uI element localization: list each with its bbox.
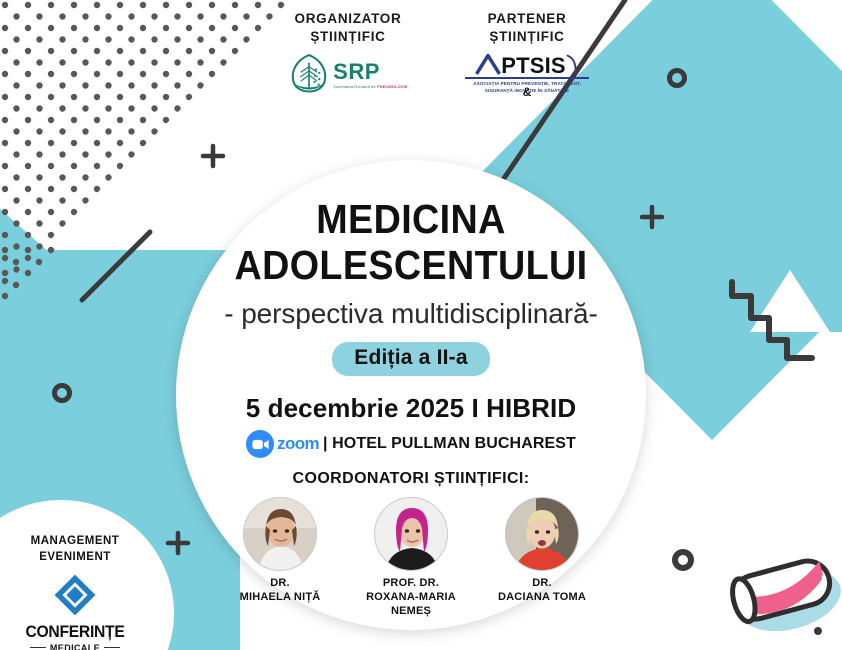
partner-block: PARTENER ȘTIINȚIFIC PTSIS ASOCIAȚIA PENT… bbox=[432, 10, 622, 95]
coordinator-rank: DR. bbox=[220, 577, 340, 591]
coordinator-name: DR. MIHAELA NIȚĂ bbox=[220, 577, 340, 605]
management-label: MANAGEMENT EVENIMENT bbox=[0, 534, 150, 565]
avatar bbox=[505, 497, 579, 571]
coordinators-list: DR. MIHAELA NIȚĂ PROF. DR. ROXANA-MARIA … bbox=[176, 497, 646, 618]
conferinte-subtitle-row: MEDICALE bbox=[0, 643, 150, 650]
ptsis-ampersand: & bbox=[523, 86, 532, 98]
title-line-2: ADOLESCENTULUI bbox=[195, 242, 627, 288]
avatar bbox=[374, 497, 448, 571]
srp-text-block: SRP Societatea Română de PNEUMOLOGIE bbox=[333, 61, 408, 89]
coordinator-name: PROF. DR. ROXANA-MARIA NEMEȘ bbox=[351, 577, 471, 618]
zoom-camera-icon bbox=[246, 430, 274, 458]
title-line-1: MEDICINA bbox=[195, 196, 627, 242]
srp-logo: SRP Societatea Română de PNEUMOLOGIE bbox=[248, 53, 448, 97]
coordinator-name: DR. DACIANA TOMA bbox=[482, 577, 602, 605]
ptsis-divider bbox=[465, 77, 589, 79]
avatar bbox=[243, 497, 317, 571]
venue-name: | HOTEL PULLMAN BUCHAREST bbox=[323, 435, 576, 453]
partner-label-line1: PARTENER bbox=[488, 11, 567, 26]
ptsis-swoosh-icon bbox=[566, 54, 579, 76]
edition-row: Ediția a II-a bbox=[176, 342, 646, 376]
srp-subtitle-accent: PNEUMOLOGIE bbox=[377, 84, 408, 89]
ptsis-subtitle: ASOCIAȚIA PENTRU PREVENȚIE, TRATAMENT, S… bbox=[457, 81, 597, 95]
ptsis-top-row: PTSIS bbox=[475, 52, 579, 76]
organizer-block: ORGANIZATOR ȘTIINȚIFIC SRP Societatea Ro… bbox=[248, 10, 448, 97]
organizer-label-line2: ȘTIINȚIFIC bbox=[310, 29, 385, 44]
dot-decoration-bottom-right bbox=[814, 627, 822, 635]
list-item: DR. MIHAELA NIȚĂ bbox=[220, 497, 340, 618]
coordinator-rank: PROF. DR. bbox=[351, 577, 471, 591]
conferinte-wordmark: CONFERINȚE bbox=[4, 624, 147, 641]
srp-subtitle: Societatea Română de PNEUMOLOGIE bbox=[333, 84, 408, 89]
coordinator-fullname: ROXANA-MARIA NEMEȘ bbox=[366, 591, 456, 617]
organizer-label: ORGANIZATOR ȘTIINȚIFIC bbox=[248, 10, 448, 46]
zoom-wordmark: zoom bbox=[277, 434, 319, 454]
srp-subtitle-prefix: Societatea Română de bbox=[333, 84, 377, 89]
organizer-label-line1: ORGANIZATOR bbox=[295, 11, 402, 26]
partner-label: PARTENER ȘTIINȚIFIC bbox=[432, 10, 622, 46]
srp-tree-icon bbox=[288, 53, 330, 97]
coordinator-fullname: MIHAELA NIȚĂ bbox=[240, 591, 321, 603]
management-label-line1: MANAGEMENT bbox=[31, 535, 120, 547]
ptsis-roof-icon bbox=[475, 52, 501, 76]
srp-wordmark: SRP bbox=[333, 61, 408, 83]
zoom-logo: zoom bbox=[246, 430, 319, 458]
rule-right bbox=[104, 647, 120, 649]
conferinte-subtitle: MEDICALE bbox=[50, 643, 100, 650]
conference-poster: ORGANIZATOR ȘTIINȚIFIC SRP Societatea Ro… bbox=[0, 0, 842, 650]
coordinators-heading: COORDONATORI ȘTIINȚIFICI: bbox=[176, 470, 646, 488]
rule-left bbox=[30, 647, 46, 649]
list-item: PROF. DR. ROXANA-MARIA NEMEȘ bbox=[351, 497, 471, 618]
page-title: MEDICINA ADOLESCENTULUI bbox=[195, 196, 627, 289]
ptsis-wordmark: PTSIS bbox=[501, 56, 566, 76]
event-date: 5 decembrie 2025 I HIBRID bbox=[176, 393, 646, 424]
coordinator-fullname: DACIANA TOMA bbox=[498, 591, 586, 603]
edition-badge: Ediția a II-a bbox=[332, 342, 489, 376]
ring-decoration-bottom-right bbox=[675, 552, 691, 568]
ptsis-logo: PTSIS ASOCIAȚIA PENTRU PREVENȚIE, TRATAM… bbox=[432, 52, 622, 95]
partner-label-line2: ȘTIINȚIFIC bbox=[489, 29, 564, 44]
management-block: MANAGEMENT EVENIMENT CONFERINȚE MEDICALE bbox=[0, 534, 150, 650]
conferinte-diamond-icon bbox=[53, 573, 97, 617]
coordinator-rank: DR. bbox=[482, 577, 602, 591]
venue-row: zoom | HOTEL PULLMAN BUCHAREST bbox=[176, 430, 646, 458]
page-subtitle: - perspectiva multidisciplinară- bbox=[166, 298, 656, 330]
list-item: DR. DACIANA TOMA bbox=[482, 497, 602, 618]
management-label-line2: EVENIMENT bbox=[39, 551, 111, 563]
